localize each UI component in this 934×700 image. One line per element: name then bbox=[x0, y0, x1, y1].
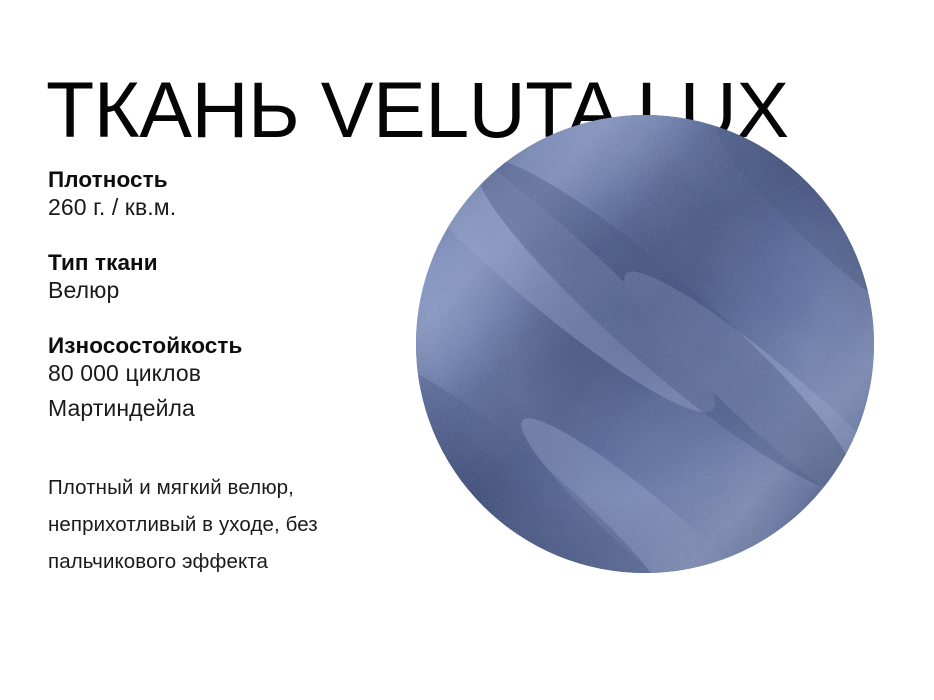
spec-item-fabric-type: Тип ткани Велюр bbox=[48, 249, 408, 305]
spec-list: Плотность 260 г. / кв.м. Тип ткани Велюр… bbox=[48, 166, 408, 428]
spec-value-abrasion-resistance-unit: Мартиндейла bbox=[48, 388, 408, 428]
spec-item-density: Плотность 260 г. / кв.м. bbox=[48, 166, 408, 222]
fabric-spec-card: ТКАНЬ VELUTA LUX Плотность 260 г. / кв.м… bbox=[0, 0, 934, 700]
fabric-swatch bbox=[416, 115, 874, 573]
description-text: Плотный и мягкий велюр, неприхотливый в … bbox=[48, 469, 420, 580]
spec-value-fabric-type: Велюр bbox=[48, 276, 408, 305]
fabric-swatch-image bbox=[416, 115, 874, 573]
spec-value-density: 260 г. / кв.м. bbox=[48, 193, 408, 222]
spec-value-abrasion-resistance: 80 000 циклов bbox=[48, 359, 408, 388]
spec-label-fabric-type: Тип ткани bbox=[48, 249, 408, 276]
spec-item-abrasion-resistance: Износостойкость 80 000 циклов Мартиндейл… bbox=[48, 332, 408, 428]
spec-label-abrasion-resistance: Износостойкость bbox=[48, 332, 408, 359]
spec-label-density: Плотность bbox=[48, 166, 408, 193]
